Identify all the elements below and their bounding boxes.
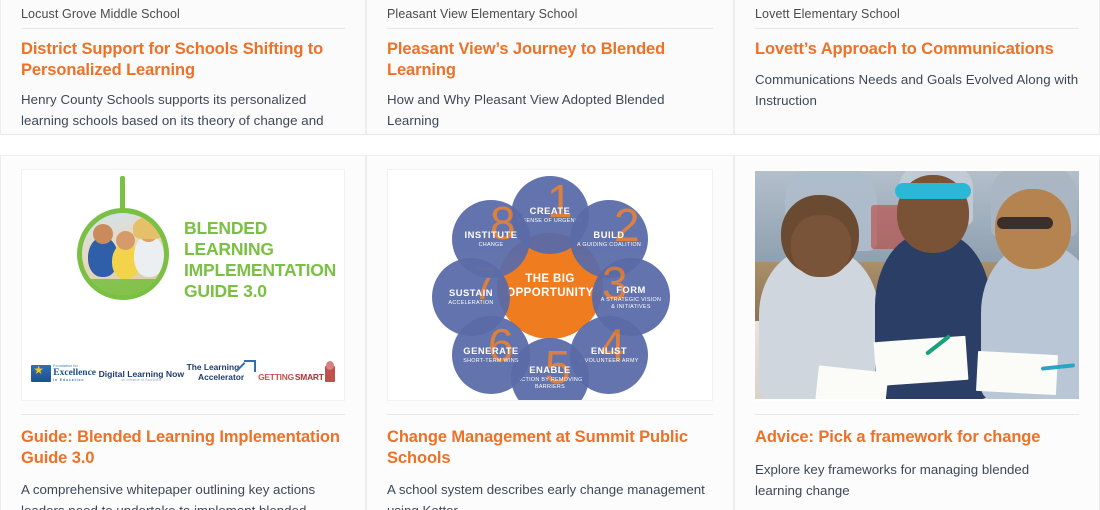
card-title[interactable]: Advice: Pick a framework for change — [755, 427, 1079, 448]
hub-line-1: THE BIG — [506, 272, 593, 286]
partner-logo-strip: Foundation for Excellence in Education D… — [22, 360, 344, 382]
logo-foundation-for-excellence: Foundation for Excellence in Education — [31, 365, 96, 382]
resource-card-locust-grove[interactable]: Locust Grove Middle School District Supp… — [0, 0, 366, 135]
kotter-8-step-wheel: THE BIG OPPORTUNITY 1 CREATE A SENSE OF … — [388, 170, 712, 400]
card-divider — [755, 414, 1079, 415]
kotter-diagram-thumbnail[interactable]: THE BIG OPPORTUNITY 1 CREATE A SENSE OF … — [387, 169, 713, 401]
tree-icon — [325, 366, 335, 382]
step-name: CREATE — [530, 205, 571, 216]
resource-card-pleasant-view[interactable]: Pleasant View Elementary School Pleasant… — [366, 0, 734, 135]
card-divider — [387, 414, 713, 415]
card-divider — [387, 28, 713, 29]
card-divider — [21, 28, 345, 29]
logo-the-learning-accelerator: The Learning Accelerator — [187, 360, 256, 382]
cover-title-line-3: GUIDE 3.0 — [184, 281, 344, 302]
logo-line-2: an initiative of ExcelinEd — [99, 379, 184, 382]
card-title[interactable]: Change Management at Summit Public Schoo… — [387, 427, 713, 468]
star-icon — [31, 365, 51, 382]
logo-digital-learning-now: Digital Learning Now an initiative of Ex… — [99, 370, 184, 382]
card-description: A school system describes early change m… — [387, 479, 713, 510]
cover-photo-circle — [77, 208, 169, 300]
step-number: 2 — [614, 202, 640, 248]
step-name: INSTITUTE — [465, 229, 518, 240]
step-name: SUSTAIN — [449, 287, 493, 298]
cover-title-line-1: BLENDED LEARNING — [184, 218, 344, 260]
step-subtitle: CHANGE — [473, 242, 510, 249]
step-name: BUILD — [593, 229, 624, 240]
cover-desk — [82, 279, 164, 295]
wheel-step-8: 8 INSTITUTE CHANGE — [452, 200, 530, 278]
logo-line-1: The Learning — [187, 362, 240, 372]
card-description: How and Why Pleasant View Adopted Blende… — [387, 89, 713, 131]
card-description: A comprehensive whitepaper outlining key… — [21, 479, 345, 510]
step-name: ENLIST — [591, 345, 627, 356]
cover-title: BLENDED LEARNING IMPLEMENTATION GUIDE 3.… — [184, 218, 344, 302]
resource-card-implementation-guide[interactable]: BLENDED LEARNING IMPLEMENTATION GUIDE 3.… — [0, 155, 366, 510]
card-divider — [755, 28, 1079, 29]
logo-line-2: SMART — [295, 373, 324, 382]
school-name: Lovett Elementary School — [755, 7, 1079, 28]
school-name: Locust Grove Middle School — [21, 7, 345, 28]
card-description: Communications Needs and Goals Evolved A… — [755, 69, 1079, 111]
resource-card-grid: Locust Grove Middle School District Supp… — [0, 0, 1100, 510]
photo-worksheet-2 — [976, 351, 1058, 395]
classroom-photo — [755, 171, 1079, 399]
arrow-icon — [244, 360, 256, 372]
report-cover-thumbnail[interactable]: BLENDED LEARNING IMPLEMENTATION GUIDE 3.… — [21, 169, 345, 401]
step-number: 1 — [547, 178, 573, 224]
step-name: GENERATE — [463, 345, 518, 356]
bottom-card-row: BLENDED LEARNING IMPLEMENTATION GUIDE 3.… — [0, 140, 1100, 510]
step-subtitle: SHORT-TERM WINS — [457, 358, 525, 365]
card-description: Explore key frameworks for managing blen… — [755, 459, 1079, 501]
blended-learning-guide-cover: BLENDED LEARNING IMPLEMENTATION GUIDE 3.… — [22, 170, 344, 400]
resource-card-pick-a-framework[interactable]: Advice: Pick a framework for change Expl… — [734, 155, 1100, 510]
step-subtitle: A GUIDING COALITION — [571, 242, 647, 249]
card-title[interactable]: Pleasant View’s Journey to Blended Learn… — [387, 39, 713, 80]
resource-card-lovett[interactable]: Lovett Elementary School Lovett’s Approa… — [734, 0, 1100, 135]
card-description: Henry County Schools supports its person… — [21, 89, 345, 131]
resource-card-change-management[interactable]: THE BIG OPPORTUNITY 1 CREATE A SENSE OF … — [366, 155, 734, 510]
classroom-photo-thumbnail[interactable] — [755, 169, 1079, 401]
logo-line-2: Accelerator — [187, 373, 256, 383]
card-title[interactable]: Guide: Blended Learning Implementation G… — [21, 427, 345, 468]
top-card-row: Locust Grove Middle School District Supp… — [0, 0, 1100, 140]
cover-student-3 — [134, 235, 164, 277]
logo-getting-smart: GETTING SMART — [258, 366, 335, 382]
logo-line-1: GETTING — [258, 373, 294, 382]
step-subtitle: A STRATEGIC VISION & INITIATIVES — [592, 297, 670, 310]
step-name: ENABLE — [529, 364, 571, 375]
step-subtitle: ACCELERATION — [442, 300, 499, 307]
school-name: Pleasant View Elementary School — [387, 7, 713, 28]
step-subtitle: ACTION BY REMOVING BARRIERS — [511, 377, 589, 390]
card-title[interactable]: Lovett’s Approach to Communications — [755, 39, 1079, 60]
card-title[interactable]: District Support for Schools Shifting to… — [21, 39, 345, 80]
step-name: FORM — [616, 284, 646, 295]
cover-title-line-2: IMPLEMENTATION — [184, 260, 344, 281]
logo-line-3: in Education — [53, 379, 96, 382]
card-divider — [21, 414, 345, 415]
hub-line-2: OPPORTUNITY — [506, 286, 593, 300]
